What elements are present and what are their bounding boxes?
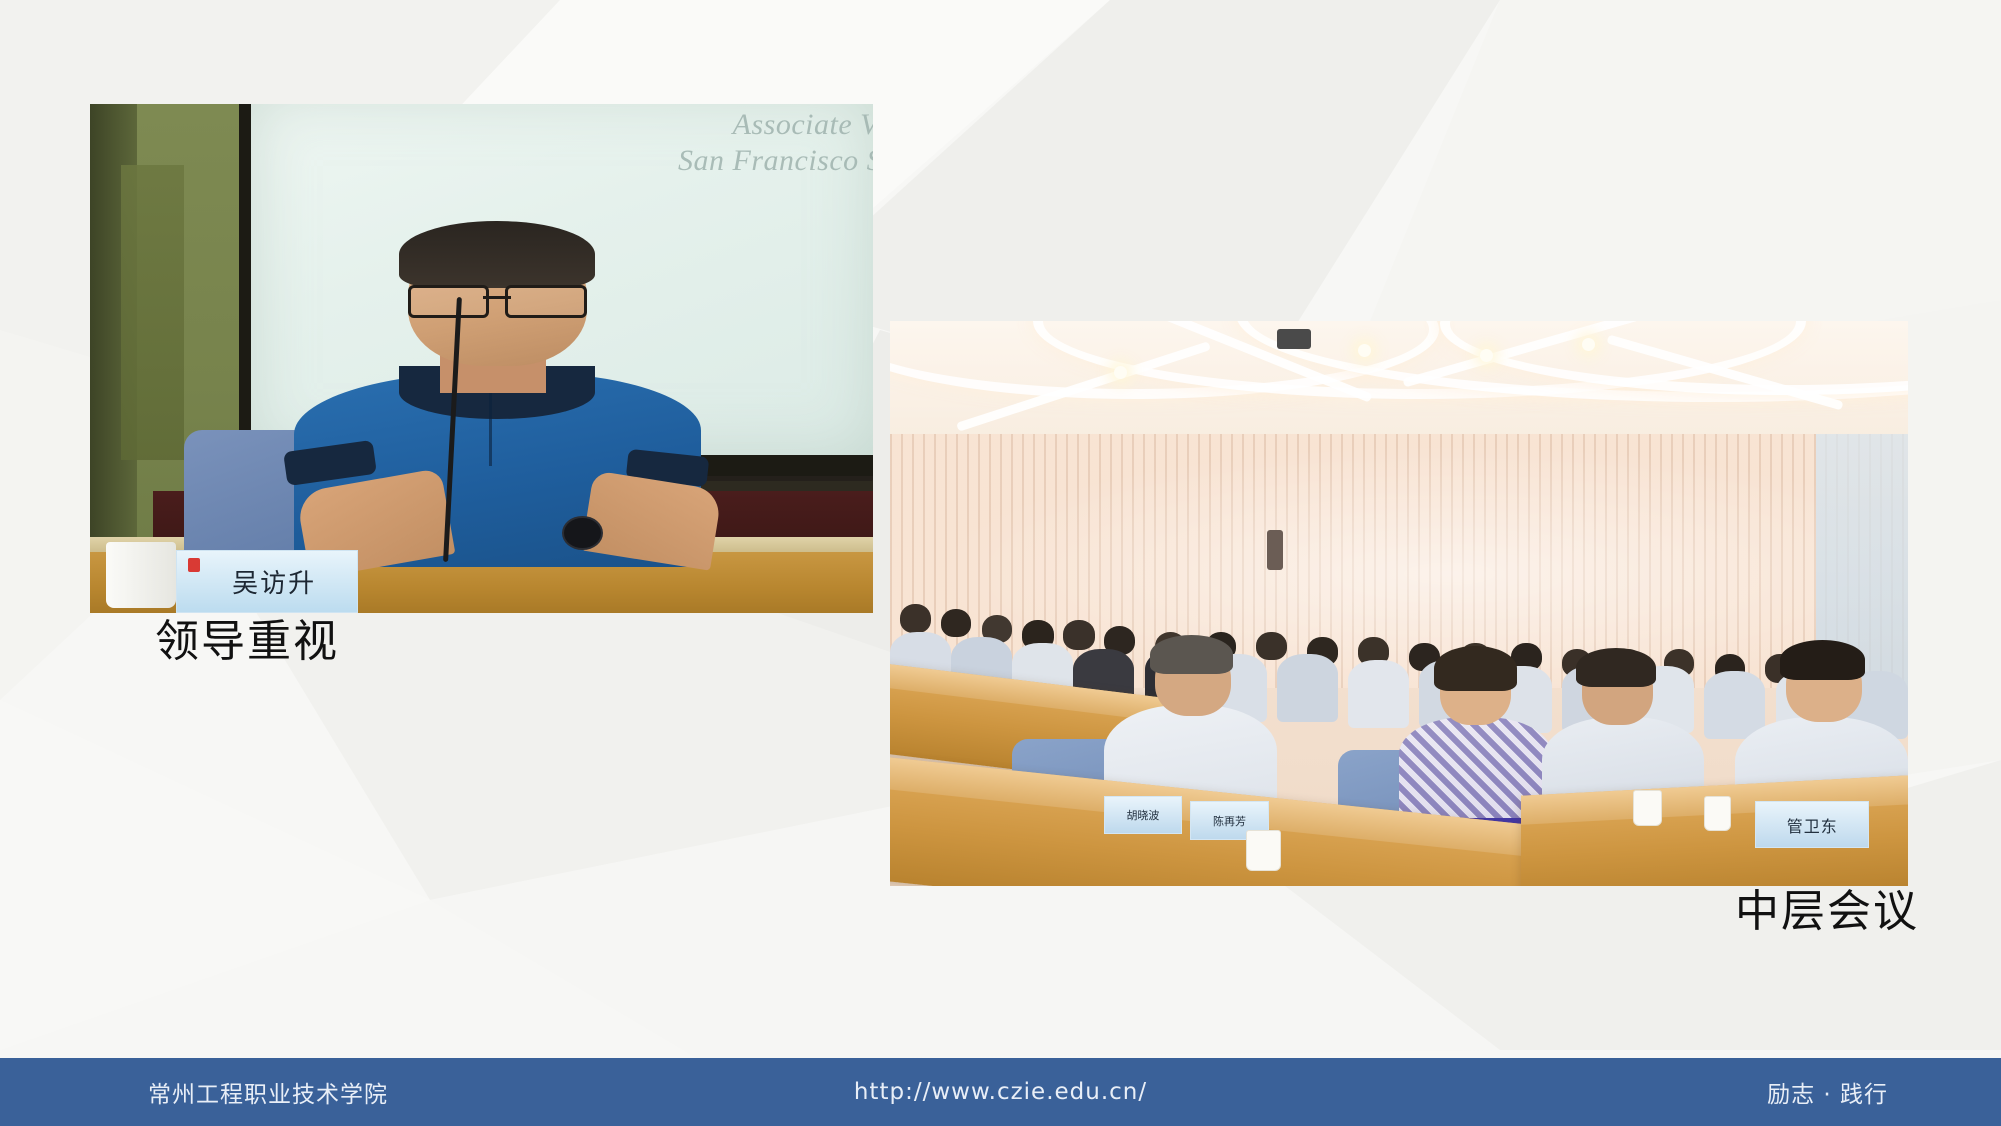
photo-meeting-scene: 胡晓波 陈再芳 管卫东 (890, 321, 1908, 886)
eyeglass-lens-left (408, 285, 489, 318)
photo-leadership-scene: Associate V San Francisco St (90, 104, 873, 613)
eyeglass-bridge (483, 296, 512, 299)
attendee-nameplate: 管卫东 (1755, 801, 1869, 848)
attendee-head (900, 604, 931, 633)
attendee-hair (1780, 640, 1866, 680)
projector-text-line-1: Associate V (733, 108, 873, 142)
attendee-hair (1150, 635, 1233, 675)
attendee-torso (1348, 660, 1409, 728)
desk-nameplate: 吴访升 (176, 550, 358, 613)
attendee-nameplate: 胡晓波 (1104, 796, 1182, 835)
caption-meeting: 中层会议 (1735, 890, 1919, 934)
glass-cup (1633, 790, 1661, 826)
eyeglass-lens-right (505, 285, 586, 318)
slide-footer: 常州工程职业技术学院 http://www.czie.edu.cn/ 励志 · … (0, 1058, 2001, 1126)
attendee-hair (1434, 646, 1517, 691)
attendee-torso (1277, 654, 1338, 722)
speaker-hair (399, 221, 594, 288)
water-cup (106, 542, 176, 608)
attendee-hair (1576, 648, 1655, 688)
wall-speaker (1267, 530, 1283, 570)
projector-text-line-2: San Francisco St (678, 144, 873, 178)
ceiling-projector (1277, 329, 1311, 349)
attendee-head (1256, 632, 1287, 660)
wall-pillar (121, 165, 184, 460)
speaker-placket (489, 386, 492, 467)
nameplate-emblem-icon (188, 558, 200, 572)
attendee-head (1063, 620, 1095, 649)
eyeglasses-icon (408, 285, 587, 312)
caption-leadership: 领导重视 (155, 620, 339, 664)
speaker-figure (294, 231, 701, 567)
photo-meeting: 胡晓波 陈再芳 管卫东 (890, 321, 1908, 886)
attendee-head (941, 609, 972, 637)
downlight (1358, 344, 1371, 357)
paper-cup (1246, 830, 1281, 872)
footer-url[interactable]: http://www.czie.edu.cn/ (854, 1079, 1147, 1105)
footer-organization: 常州工程职业技术学院 (148, 1075, 388, 1109)
photo-leadership: Associate V San Francisco St (90, 104, 873, 613)
glass-cup (1704, 796, 1730, 832)
presentation-slide: Associate V San Francisco St (0, 0, 2001, 1126)
nameplate-text: 吴访升 (218, 563, 316, 600)
footer-motto: 励志 · 践行 (1767, 1075, 1888, 1109)
